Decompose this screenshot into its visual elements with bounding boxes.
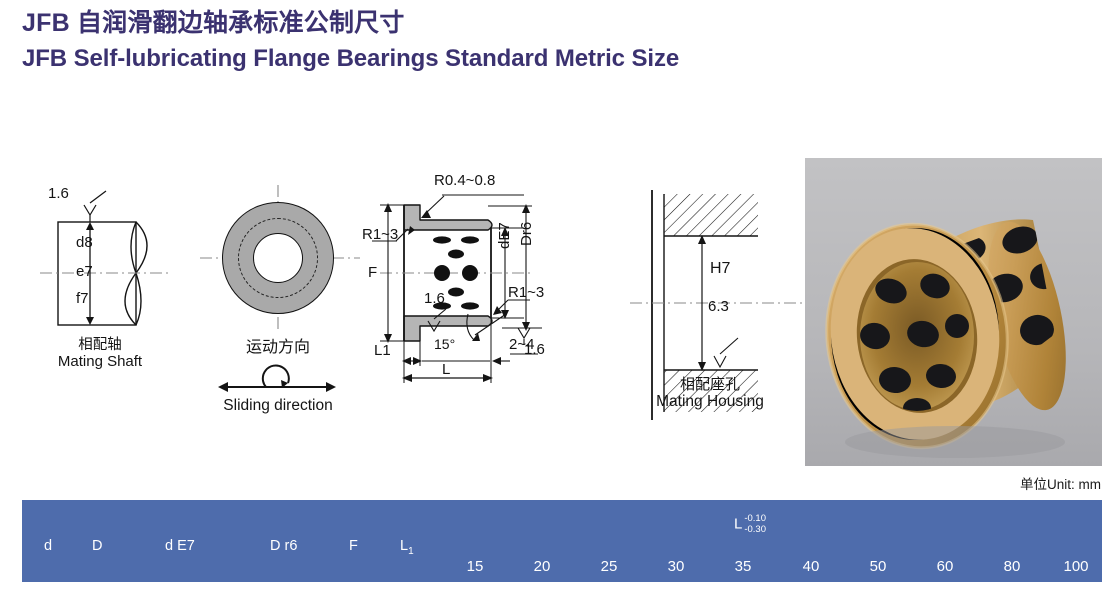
length-group-label: L	[734, 515, 742, 532]
fillet-label-r04-08: R0.4~0.8	[434, 172, 495, 189]
column-header-D: D	[92, 538, 102, 554]
page-title: JFB 自润滑翻边轴承标准公制尺寸 JFB Self-lubricating F…	[22, 8, 679, 74]
mating-housing-caption-en: Mating Housing	[630, 393, 790, 411]
column-divider	[388, 582, 392, 592]
product-photo	[805, 158, 1102, 466]
column-divider	[152, 582, 156, 592]
length-tol-lower: -0.30	[744, 525, 766, 536]
shaft-tolerance-e7: e7	[76, 263, 93, 280]
sliding-direction-arrows-icon	[200, 357, 360, 397]
page-title-cn: JFB 自润滑翻边轴承标准公制尺寸	[22, 8, 679, 38]
length-col-80: 80	[989, 558, 1035, 575]
shaft-tolerance-d8: d8	[76, 234, 93, 251]
flange-thickness-label-l1: L1	[374, 342, 391, 359]
flange-diameter-label-f: F	[368, 264, 377, 281]
figure-mating-shaft: 1.6 d8 e7 f7 相配轴 Mating Shaft	[40, 185, 200, 370]
column-divider	[1043, 582, 1047, 592]
column-header-L1-subscript: 1	[408, 546, 414, 557]
inner-diameter-label-de7: dE7	[496, 222, 513, 249]
sliding-direction-caption-en: Sliding direction	[200, 397, 356, 415]
column-header-d: d	[44, 538, 52, 554]
column-divider	[710, 582, 714, 592]
length-col-100: 100	[1053, 558, 1099, 575]
flange-bearing-illustration	[805, 158, 1102, 466]
column-divider	[576, 582, 580, 592]
mating-shaft-caption-cn: 相配轴	[40, 333, 160, 354]
column-divider	[778, 582, 782, 592]
column-divider	[84, 582, 88, 592]
housing-bore-tolerance-label: H7	[710, 260, 730, 278]
length-col-20: 20	[519, 558, 565, 575]
mating-shaft-caption-en: Mating Shaft	[40, 353, 160, 370]
mating-housing-caption-cn: 相配座孔	[630, 373, 790, 394]
length-col-40: 40	[788, 558, 834, 575]
length-tol-upper: -0.10	[744, 514, 766, 525]
length-col-35: 35	[720, 558, 766, 575]
length-group-header: L-0.10-0.30	[734, 514, 766, 535]
column-header-L1: L1	[400, 538, 414, 557]
length-label-l: L	[442, 361, 450, 378]
column-header-L1-base: L	[400, 538, 408, 554]
spec-table: d D d E7 D r6 F L1 L-0.10-0.30 15 20 25 …	[22, 500, 1102, 592]
figure-mating-housing: H7 6.3 相配座孔 Mating Housing	[630, 190, 810, 415]
angle-label-15deg: 15°	[434, 336, 455, 352]
figure-sliding-direction: 运动方向 Sliding direction	[200, 185, 360, 435]
column-header-Dr6: D r6	[270, 538, 297, 554]
column-divider	[238, 582, 242, 592]
outer-diameter-label-dr6: Dr6	[518, 222, 535, 246]
chamfer-label-right-r1-3: R1~3	[508, 284, 544, 301]
housing-surface-finish-label: 6.3	[708, 298, 729, 315]
column-header-F: F	[349, 538, 358, 554]
sliding-direction-caption-cn: 运动方向	[200, 333, 356, 357]
inner-surface-finish-label: 1.6	[424, 290, 445, 307]
chamfer-label-2-4: 2~4	[509, 336, 534, 353]
column-divider	[509, 582, 513, 592]
unit-note: 单位Unit: mm	[1020, 473, 1101, 493]
figure-bearing-section: R0.4~0.8 R1~3 F 1.6 R1~3 dE7 Dr6 1.6 L1 …	[372, 178, 618, 393]
bearing-section-drawing	[372, 178, 618, 393]
chamfer-label-left-r1-3: R1~3	[362, 226, 398, 243]
length-col-25: 25	[586, 558, 632, 575]
shaft-tolerance-f7: f7	[76, 290, 89, 307]
length-col-50: 50	[855, 558, 901, 575]
page-title-en: JFB Self-lubricating Flange Bearings Sta…	[22, 44, 679, 74]
column-divider	[643, 582, 647, 592]
length-col-15: 15	[452, 558, 498, 575]
column-divider	[979, 582, 983, 592]
column-divider	[845, 582, 849, 592]
column-divider	[334, 582, 338, 592]
column-header-dE7: d E7	[165, 538, 195, 554]
length-col-60: 60	[922, 558, 968, 575]
column-divider	[442, 582, 446, 592]
ring-inner-circle	[253, 233, 303, 283]
length-col-30: 30	[653, 558, 699, 575]
column-divider	[912, 582, 916, 592]
